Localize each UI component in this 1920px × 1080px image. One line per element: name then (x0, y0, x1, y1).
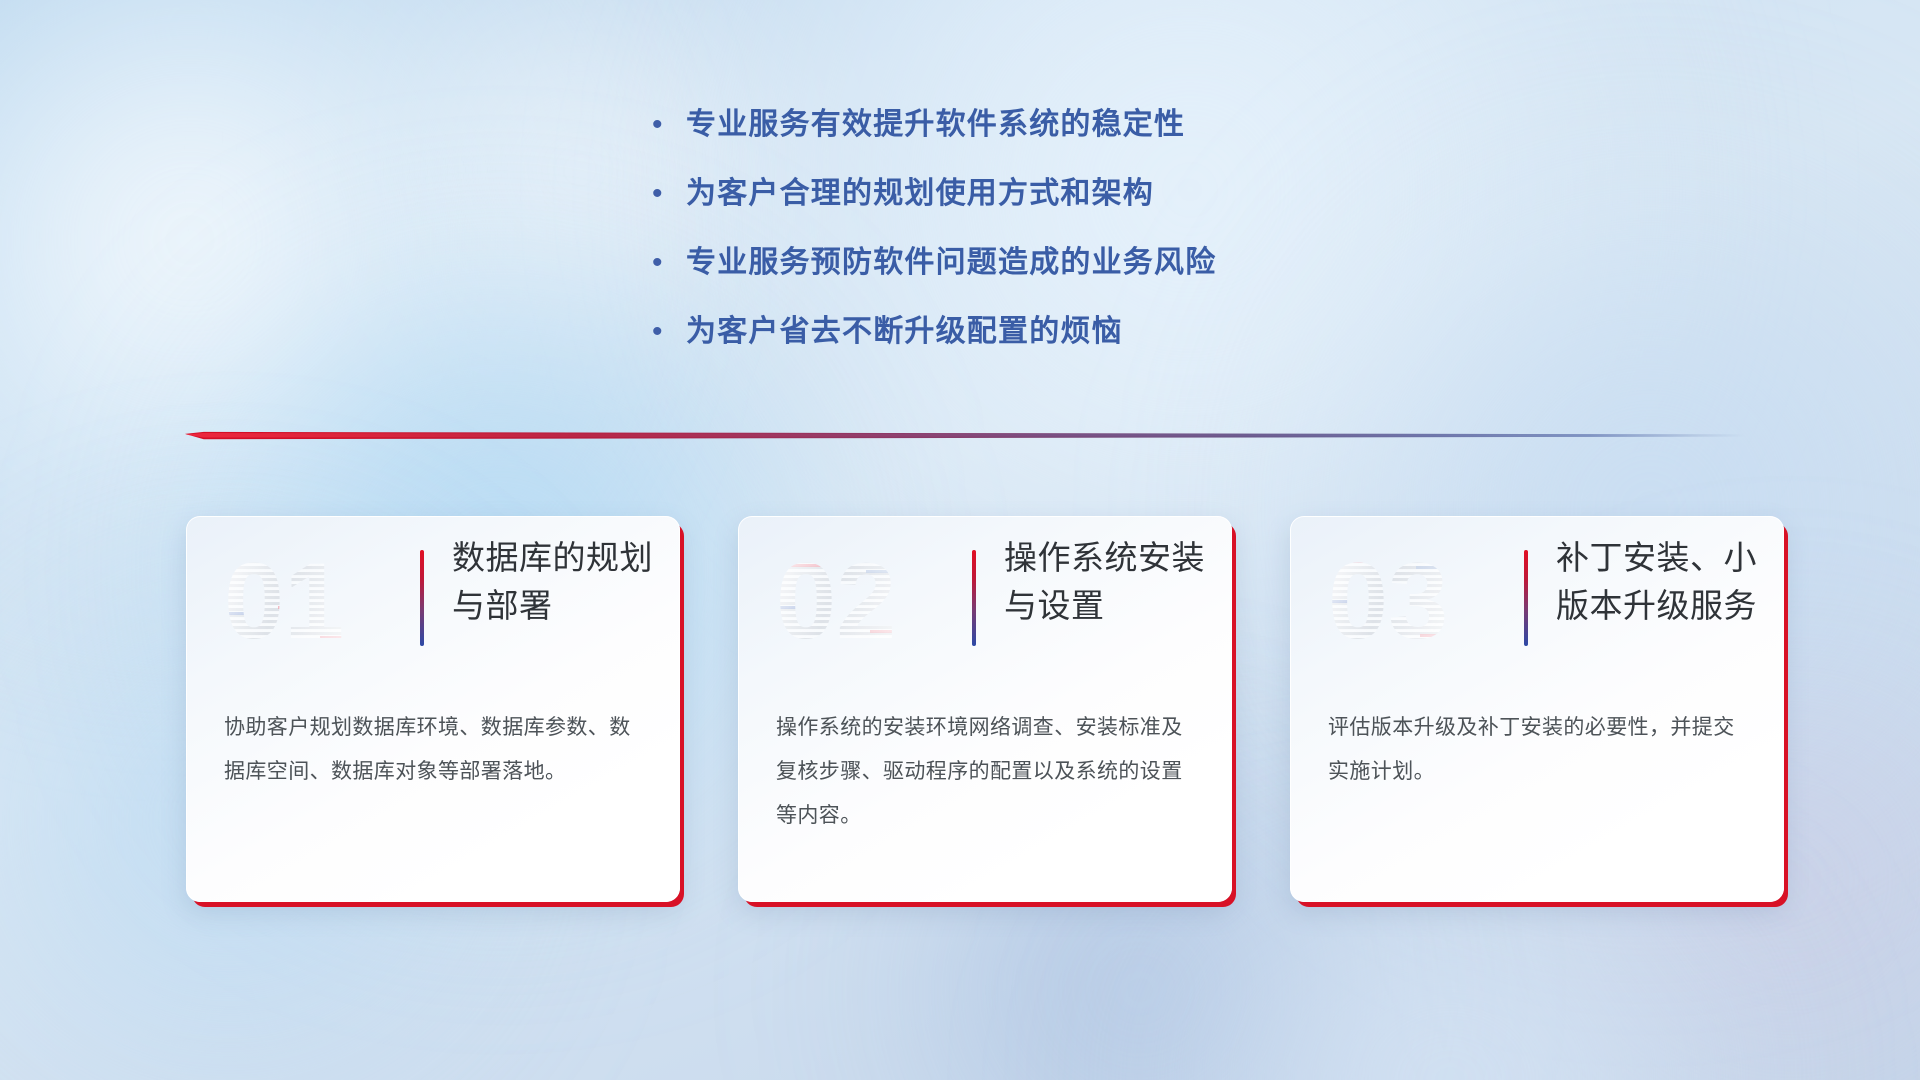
card-title: 数据库的规划与部署 (452, 534, 662, 630)
card-header: 01 数据库的规划与部署 (186, 516, 680, 676)
card-body-text: 评估版本升级及补丁安装的必要性，并提交实施计划。 (1328, 706, 1748, 794)
list-item: • 为客户省去不断升级配置的烦恼 (652, 312, 1572, 352)
card-title-rule (972, 550, 976, 646)
card-number-watermark: 02 (774, 542, 930, 658)
bullet-text: 为客户省去不断升级配置的烦恼 (686, 312, 1123, 352)
card-title: 补丁安装、小版本升级服务 (1556, 534, 1766, 630)
card-header: 03 补丁安装、小版本升级服务 (1290, 516, 1784, 676)
list-item: • 为客户合理的规划使用方式和架构 (652, 174, 1572, 214)
bullet-dot-icon: • (652, 243, 686, 283)
card-body-text: 操作系统的安装环境网络调查、安装标准及复核步骤、驱动程序的配置以及系统的设置等内… (776, 706, 1196, 838)
card-row: 01 数据库的规划与部署 (0, 516, 1920, 936)
bullet-text: 专业服务预防软件问题造成的业务风险 (686, 243, 1216, 283)
bullet-text: 专业服务有效提升软件系统的稳定性 (686, 105, 1185, 145)
card-number-watermark: 01 (222, 542, 378, 658)
bullet-dot-icon: • (652, 105, 686, 145)
bullet-dot-icon: • (652, 312, 686, 352)
service-card[interactable]: 01 数据库的规划与部署 (186, 516, 680, 902)
list-item: • 专业服务预防软件问题造成的业务风险 (652, 243, 1572, 283)
list-item: • 专业服务有效提升软件系统的稳定性 (652, 105, 1572, 145)
card-title: 操作系统安装与设置 (1004, 534, 1214, 630)
service-card[interactable]: 03 补丁安装、小版本升级服务 (1290, 516, 1784, 902)
bullet-dot-icon: • (652, 174, 686, 214)
bullet-text: 为客户合理的规划使用方式和架构 (686, 174, 1154, 214)
card-header: 02 操作系统安装与设置 (738, 516, 1232, 676)
card-body-text: 协助客户规划数据库环境、数据库参数、数据库空间、数据库对象等部署落地。 (224, 706, 644, 794)
divider-highlight (185, 428, 1745, 442)
service-card[interactable]: 02 操作系统安装与设置 (738, 516, 1232, 902)
card-number-watermark: 03 (1326, 542, 1482, 658)
bullet-list: • 专业服务有效提升软件系统的稳定性 • 为客户合理的规划使用方式和架构 • 专… (652, 105, 1572, 381)
card-title-rule (1524, 550, 1528, 646)
section-divider (185, 428, 1745, 442)
card-title-rule (420, 550, 424, 646)
